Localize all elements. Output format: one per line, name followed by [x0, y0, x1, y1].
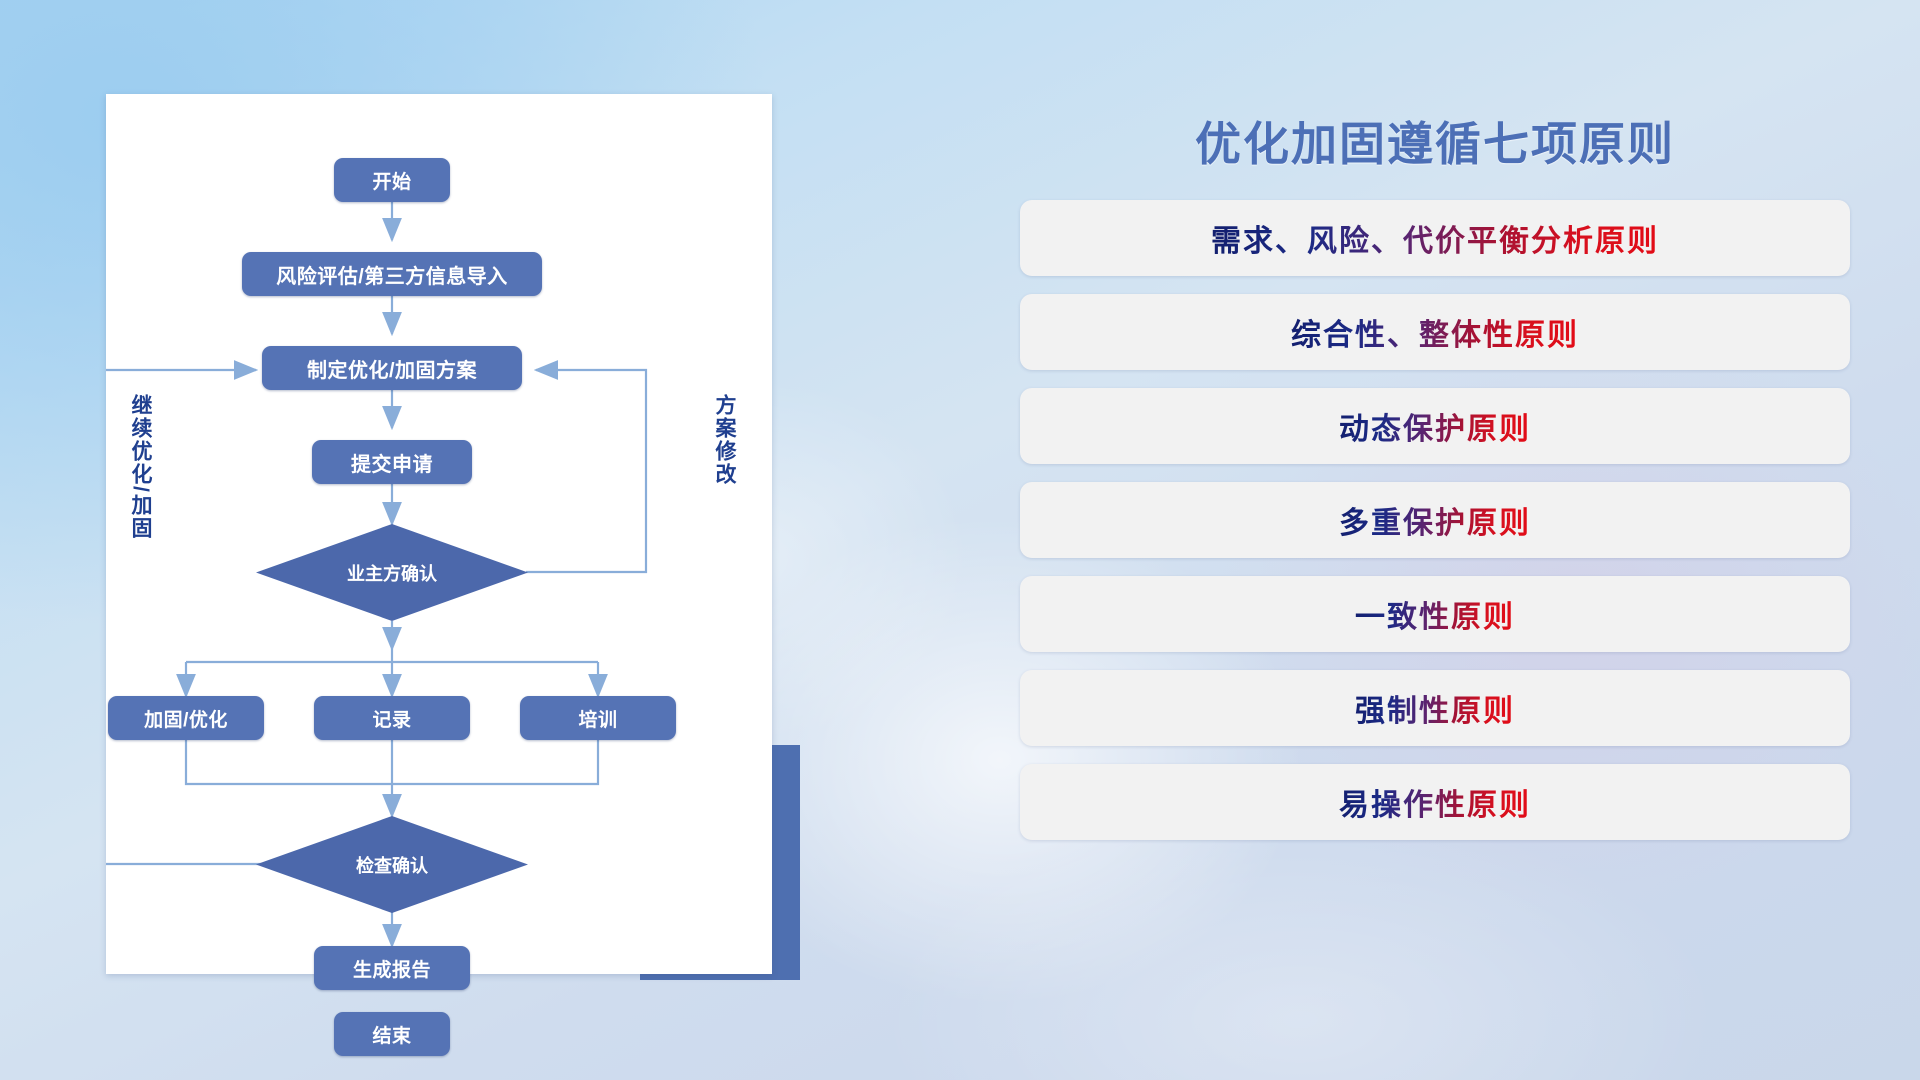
- principle-item[interactable]: 强制性原则: [1020, 670, 1850, 746]
- flow-node-end[interactable]: 结束: [334, 1012, 450, 1056]
- flowchart-card: 开始 风险评估/第三方信息导入 制定优化/加固方案 提交申请 业主方确认 加固/…: [106, 94, 772, 974]
- principle-label: 多重保护原则: [1339, 498, 1531, 542]
- principle-label: 综合性、整体性原则: [1291, 310, 1579, 354]
- flow-edge-label-continue: 继续优化/加固: [130, 394, 151, 540]
- flow-node-plan[interactable]: 制定优化/加固方案: [262, 346, 522, 390]
- principle-item[interactable]: 需求、风险、代价平衡分析原则: [1020, 200, 1850, 276]
- flow-node-start[interactable]: 开始: [334, 158, 450, 202]
- principle-label: 易操作性原则: [1339, 780, 1531, 824]
- flow-node-reinforce[interactable]: 加固/优化: [108, 696, 264, 740]
- principle-label: 动态保护原则: [1339, 404, 1531, 448]
- flow-node-risk[interactable]: 风险评估/第三方信息导入: [242, 252, 542, 296]
- flow-node-submit[interactable]: 提交申请: [312, 440, 472, 484]
- flow-node-record[interactable]: 记录: [314, 696, 470, 740]
- flow-edge-label-revise: 方案修改: [714, 394, 735, 486]
- principle-item[interactable]: 综合性、整体性原则: [1020, 294, 1850, 370]
- principle-item[interactable]: 动态保护原则: [1020, 388, 1850, 464]
- principle-label: 一致性原则: [1355, 592, 1515, 636]
- principles-panel: 优化加固遵循七项原则 需求、风险、代价平衡分析原则 综合性、整体性原则 动态保护…: [1020, 90, 1850, 1030]
- panel-title: 优化加固遵循七项原则: [1020, 108, 1850, 174]
- principle-item[interactable]: 一致性原则: [1020, 576, 1850, 652]
- principle-item[interactable]: 易操作性原则: [1020, 764, 1850, 840]
- principle-item[interactable]: 多重保护原则: [1020, 482, 1850, 558]
- flow-node-report[interactable]: 生成报告: [314, 946, 470, 990]
- principle-label: 强制性原则: [1355, 686, 1515, 730]
- principle-label: 需求、风险、代价平衡分析原则: [1211, 216, 1659, 260]
- flow-node-training[interactable]: 培训: [520, 696, 676, 740]
